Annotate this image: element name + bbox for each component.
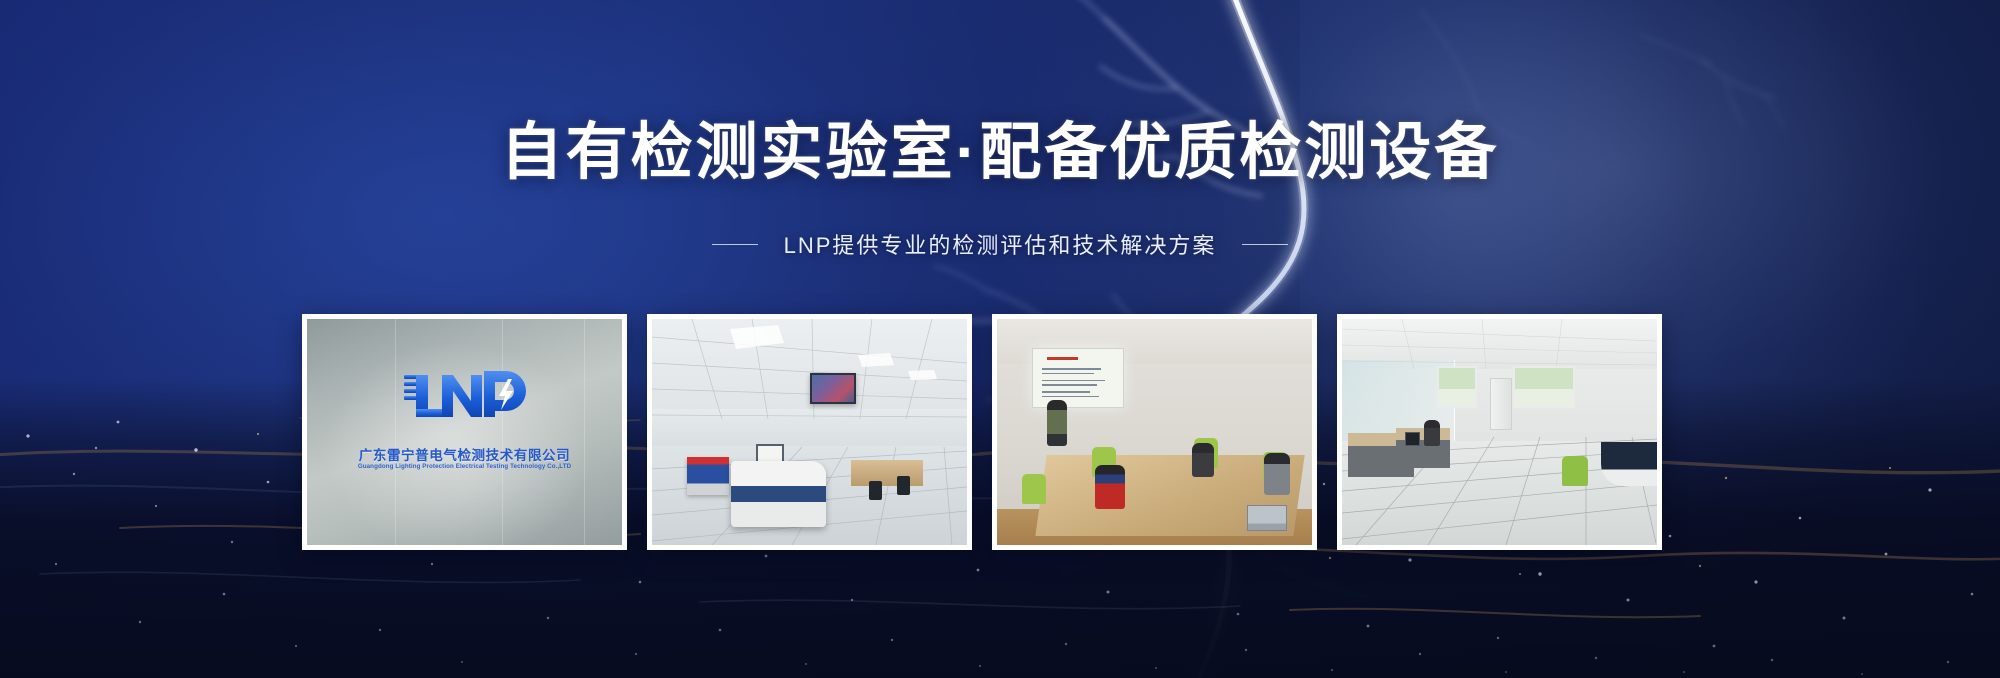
lab-wall-monitor: [810, 373, 856, 404]
card-training-meeting[interactable]: [992, 314, 1317, 550]
hero-banner: 自有检测实验室·配备优质检测设备 LNP提供专业的检测评估和技术解决方案: [0, 0, 2000, 678]
attendee-red-jacket: [1095, 465, 1125, 509]
hero-subtitle-wrap: LNP提供专业的检测评估和技术解决方案: [0, 228, 2000, 260]
card-testing-laboratory[interactable]: [647, 314, 972, 550]
photo-company-signboard: 广东雷宁普电气检测技术有限公司 Guangdong Lighting Prote…: [307, 319, 622, 545]
photo-training-meeting: [997, 319, 1312, 545]
lnp-logo-icon: [400, 365, 530, 427]
card-office-area[interactable]: [1337, 314, 1662, 550]
left-rule-divider: [712, 244, 758, 245]
lab-workbench: [851, 460, 923, 486]
lab-test-rig: [687, 457, 729, 495]
office-worker: [1424, 420, 1440, 446]
page-title: 自有检测实验室·配备优质检测设备: [0, 118, 2000, 187]
photo-office-area: [1342, 319, 1657, 545]
hero-headline-wrap: 自有检测实验室·配备优质检测设备: [0, 118, 2000, 187]
projector-screen: [1032, 348, 1124, 408]
attendee-right: [1264, 453, 1290, 495]
office-cabinet: [1490, 378, 1512, 430]
card-company-signboard[interactable]: 广东雷宁普电气检测技术有限公司 Guangdong Lighting Prote…: [302, 314, 627, 550]
hero-subtitle: LNP提供专业的检测评估和技术解决方案: [784, 228, 1217, 260]
office-desk-center: [1396, 428, 1450, 468]
reception-desk: [1601, 442, 1657, 486]
laptop-on-table: [1247, 505, 1287, 531]
lab-control-console: [731, 461, 826, 527]
signboard-company-name-cn: 广东雷宁普电气检测技术有限公司: [359, 444, 571, 464]
attendee-center: [1192, 443, 1214, 477]
photo-testing-laboratory: [652, 319, 967, 545]
office-monitor: [1405, 432, 1420, 446]
presenter-standing: [1047, 400, 1067, 446]
right-rule-divider: [1242, 244, 1288, 245]
signboard-company-name-en: Guangdong Lighting Protection Electrical…: [358, 463, 571, 470]
office-visitor-chair: [1562, 456, 1588, 486]
photo-card-strip: 广东雷宁普电气检测技术有限公司 Guangdong Lighting Prote…: [302, 314, 1662, 550]
